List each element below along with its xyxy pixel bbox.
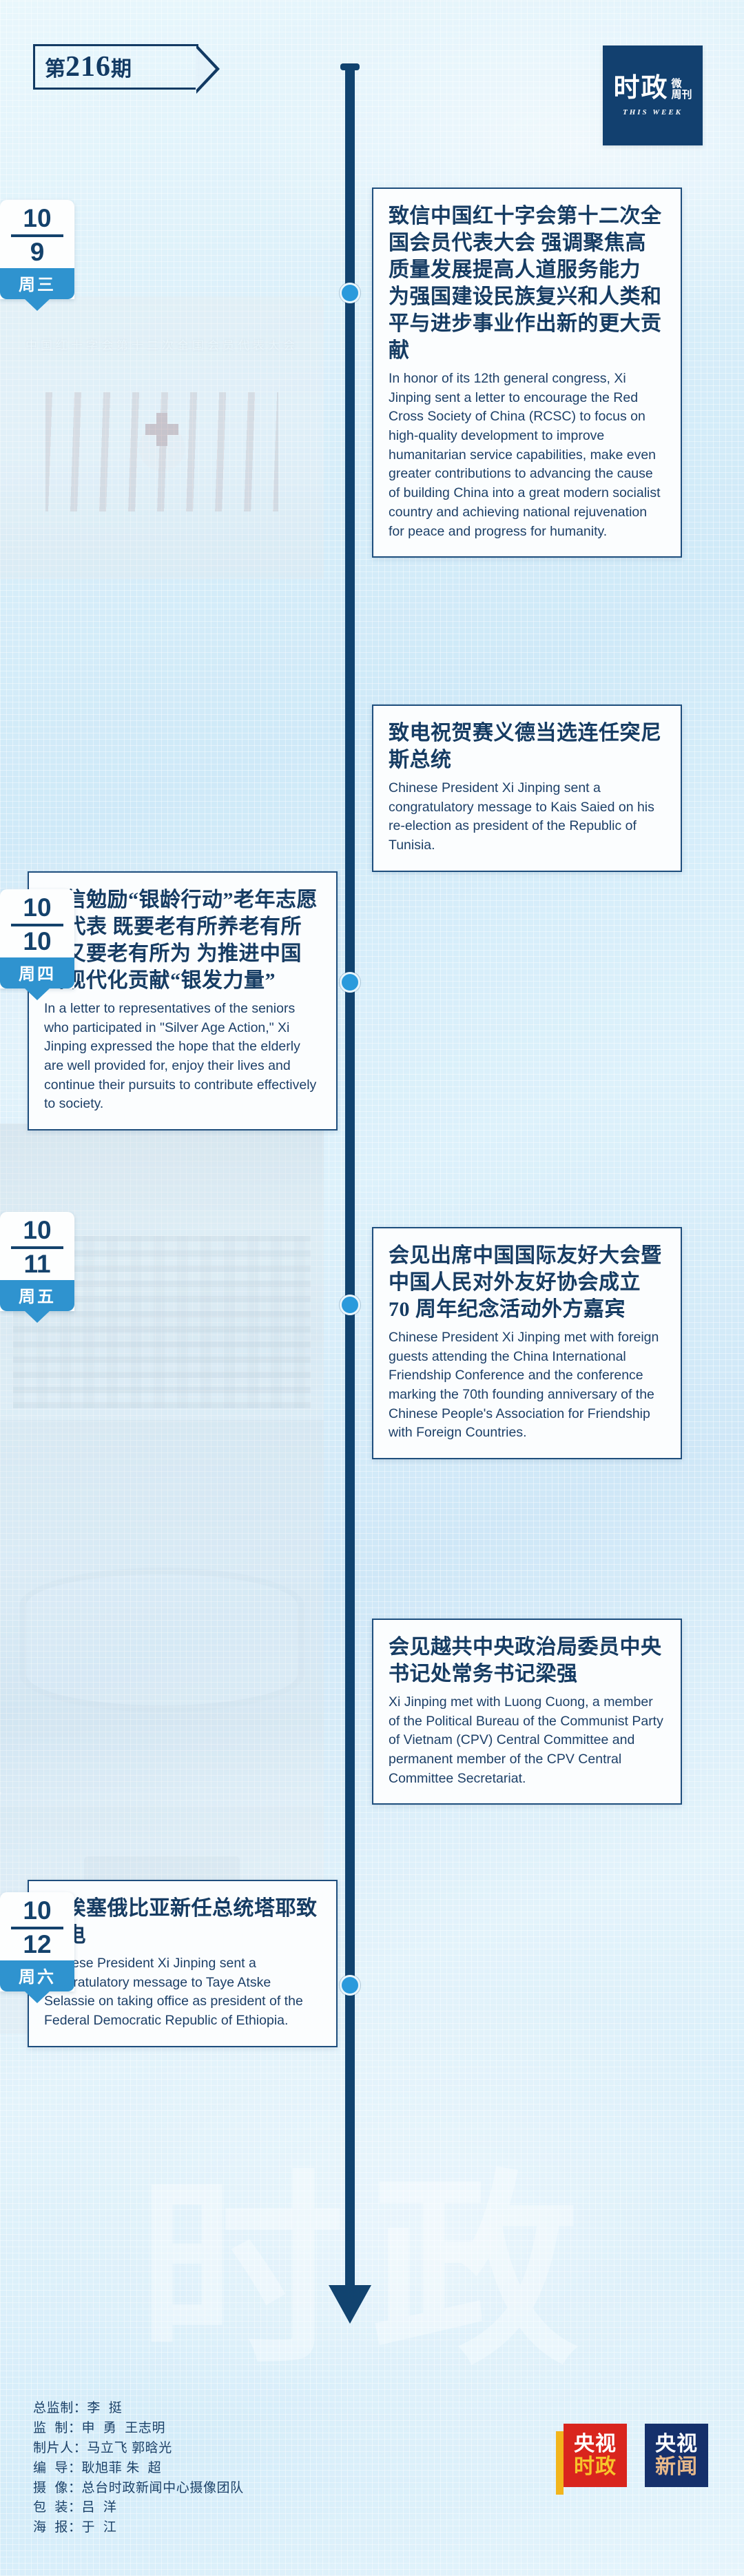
brand-logo-main: 时政: [613, 75, 668, 101]
date-weekday: 周三: [0, 268, 74, 299]
date-badge-10-12[interactable]: 10 12 周六: [0, 1892, 74, 1991]
news-card-vietnam[interactable]: 会见越共中央政治局委员中央书记处常务书记梁强 Xi Jinping met wi…: [372, 1619, 682, 1805]
date-divider: [11, 234, 63, 237]
brand-logo-side-top: 微: [672, 79, 692, 90]
footer-logo-row1: 央视: [574, 2434, 617, 2455]
issue-badge: 第216期: [33, 44, 198, 90]
background-photo-meeting-table: [0, 1420, 324, 1806]
footer-logo-row2: 新闻: [655, 2457, 698, 2477]
background-photo-red-cross: 中国红十字会第十二次全国会员代表大会: [0, 296, 324, 579]
timeline-dot-3: [340, 1295, 360, 1315]
footer-logos: 央视 时政 央视 新闻: [564, 2424, 708, 2487]
timeline-dot-2: [340, 972, 360, 993]
photo-caption: 中国红十字会第十二次全国会员代表大会: [0, 336, 324, 353]
news-card-title: 致电祝贺赛义德当选连任突尼斯总统: [389, 720, 665, 773]
date-day: 12: [0, 1931, 74, 1961]
date-weekday: 周六: [0, 1960, 74, 1991]
date-day: 11: [0, 1251, 74, 1281]
date-month: 10: [0, 1892, 74, 1924]
timeline-dot-1: [340, 283, 360, 303]
footer-logo-cctv-shizheng[interactable]: 央视 时政: [564, 2424, 627, 2487]
news-card-body: Xi Jinping met with Luong Cuong, a membe…: [389, 1693, 665, 1788]
footer-logo-row2: 时政: [574, 2457, 617, 2477]
news-card-title: 会见越共中央政治局委员中央书记处常务书记梁强: [389, 1634, 665, 1687]
date-month: 10: [0, 200, 74, 232]
footer-logo-row2-text: 新闻: [655, 2455, 698, 2478]
issue-number: 216: [65, 51, 111, 83]
news-card-body: Chinese President Xi Jinping met with fo…: [389, 1328, 665, 1443]
date-badge-10-11[interactable]: 10 11 周五: [0, 1212, 74, 1311]
date-badge-10-10[interactable]: 10 10 周四: [0, 889, 74, 988]
production-credits: 总监制：李 挺 监 制：申 勇 王志明 制片人：马立飞 郭晗光 编 导：耿旭菲 …: [33, 2399, 244, 2538]
news-card-title: 回信勉励“银龄行动”老年志愿者代表 既要老有所养老有所乐又要老有所为 为推进中国…: [44, 886, 321, 994]
issue-prefix: 第: [45, 58, 65, 81]
news-card-tunisia[interactable]: 致电祝贺赛义德当选连任突尼斯总统 Chinese President Xi Ji…: [372, 704, 682, 872]
news-card-title: 向埃塞俄比亚新任总统塔耶致贺电: [44, 1895, 321, 1949]
news-card-body: In a letter to representatives of the se…: [44, 1000, 321, 1114]
date-divider: [11, 1246, 63, 1249]
news-card-title: 致信中国红十字会第十二次全国会员代表大会 强调聚焦高质量发展提高人道服务能力 为…: [389, 203, 665, 364]
date-pointer-icon: [24, 988, 50, 1000]
date-weekday: 周五: [0, 1280, 74, 1311]
timeline-arrow-icon: [329, 2285, 371, 2324]
background-watermark: 时政: [0, 2109, 744, 2399]
brand-logo: 时政 微 周刊 THIS WEEK: [603, 45, 703, 145]
footer-logo-row1: 央视: [655, 2434, 698, 2455]
footer-logo-cctv-news[interactable]: 央视 新闻: [645, 2424, 708, 2487]
date-day: 10: [0, 929, 74, 958]
issue-suffix: 期: [111, 58, 132, 81]
news-card-red-cross[interactable]: 致信中国红十字会第十二次全国会员代表大会 强调聚焦高质量发展提高人道服务能力 为…: [372, 187, 682, 558]
brand-logo-side-bottom: 周刊: [672, 90, 692, 101]
brand-logo-english: THIS WEEK: [623, 108, 683, 116]
timeline-dot-4: [340, 1975, 360, 1996]
timeline-axis: [345, 66, 355, 2287]
date-divider: [11, 1927, 63, 1929]
date-month: 10: [0, 1212, 74, 1244]
date-pointer-icon: [24, 298, 50, 311]
date-badge-10-9[interactable]: 10 9 周三: [0, 200, 74, 299]
news-card-body: Chinese President Xi Jinping sent a cong…: [44, 1954, 321, 2031]
date-pointer-icon: [24, 1310, 50, 1323]
news-card-friendship[interactable]: 会见出席中国国际友好大会暨中国人民对外友好协会成立 70 周年纪念活动外方嘉宾 …: [372, 1227, 682, 1459]
news-card-body: In honor of its 12th general congress, X…: [389, 369, 665, 541]
news-card-body: Chinese President Xi Jinping sent a cong…: [389, 779, 665, 855]
date-divider: [11, 924, 63, 926]
date-day: 9: [0, 239, 74, 269]
date-pointer-icon: [24, 1991, 50, 2003]
date-month: 10: [0, 889, 74, 921]
date-weekday: 周四: [0, 957, 74, 988]
news-card-title: 会见出席中国国际友好大会暨中国人民对外友好协会成立 70 周年纪念活动外方嘉宾: [389, 1242, 665, 1323]
